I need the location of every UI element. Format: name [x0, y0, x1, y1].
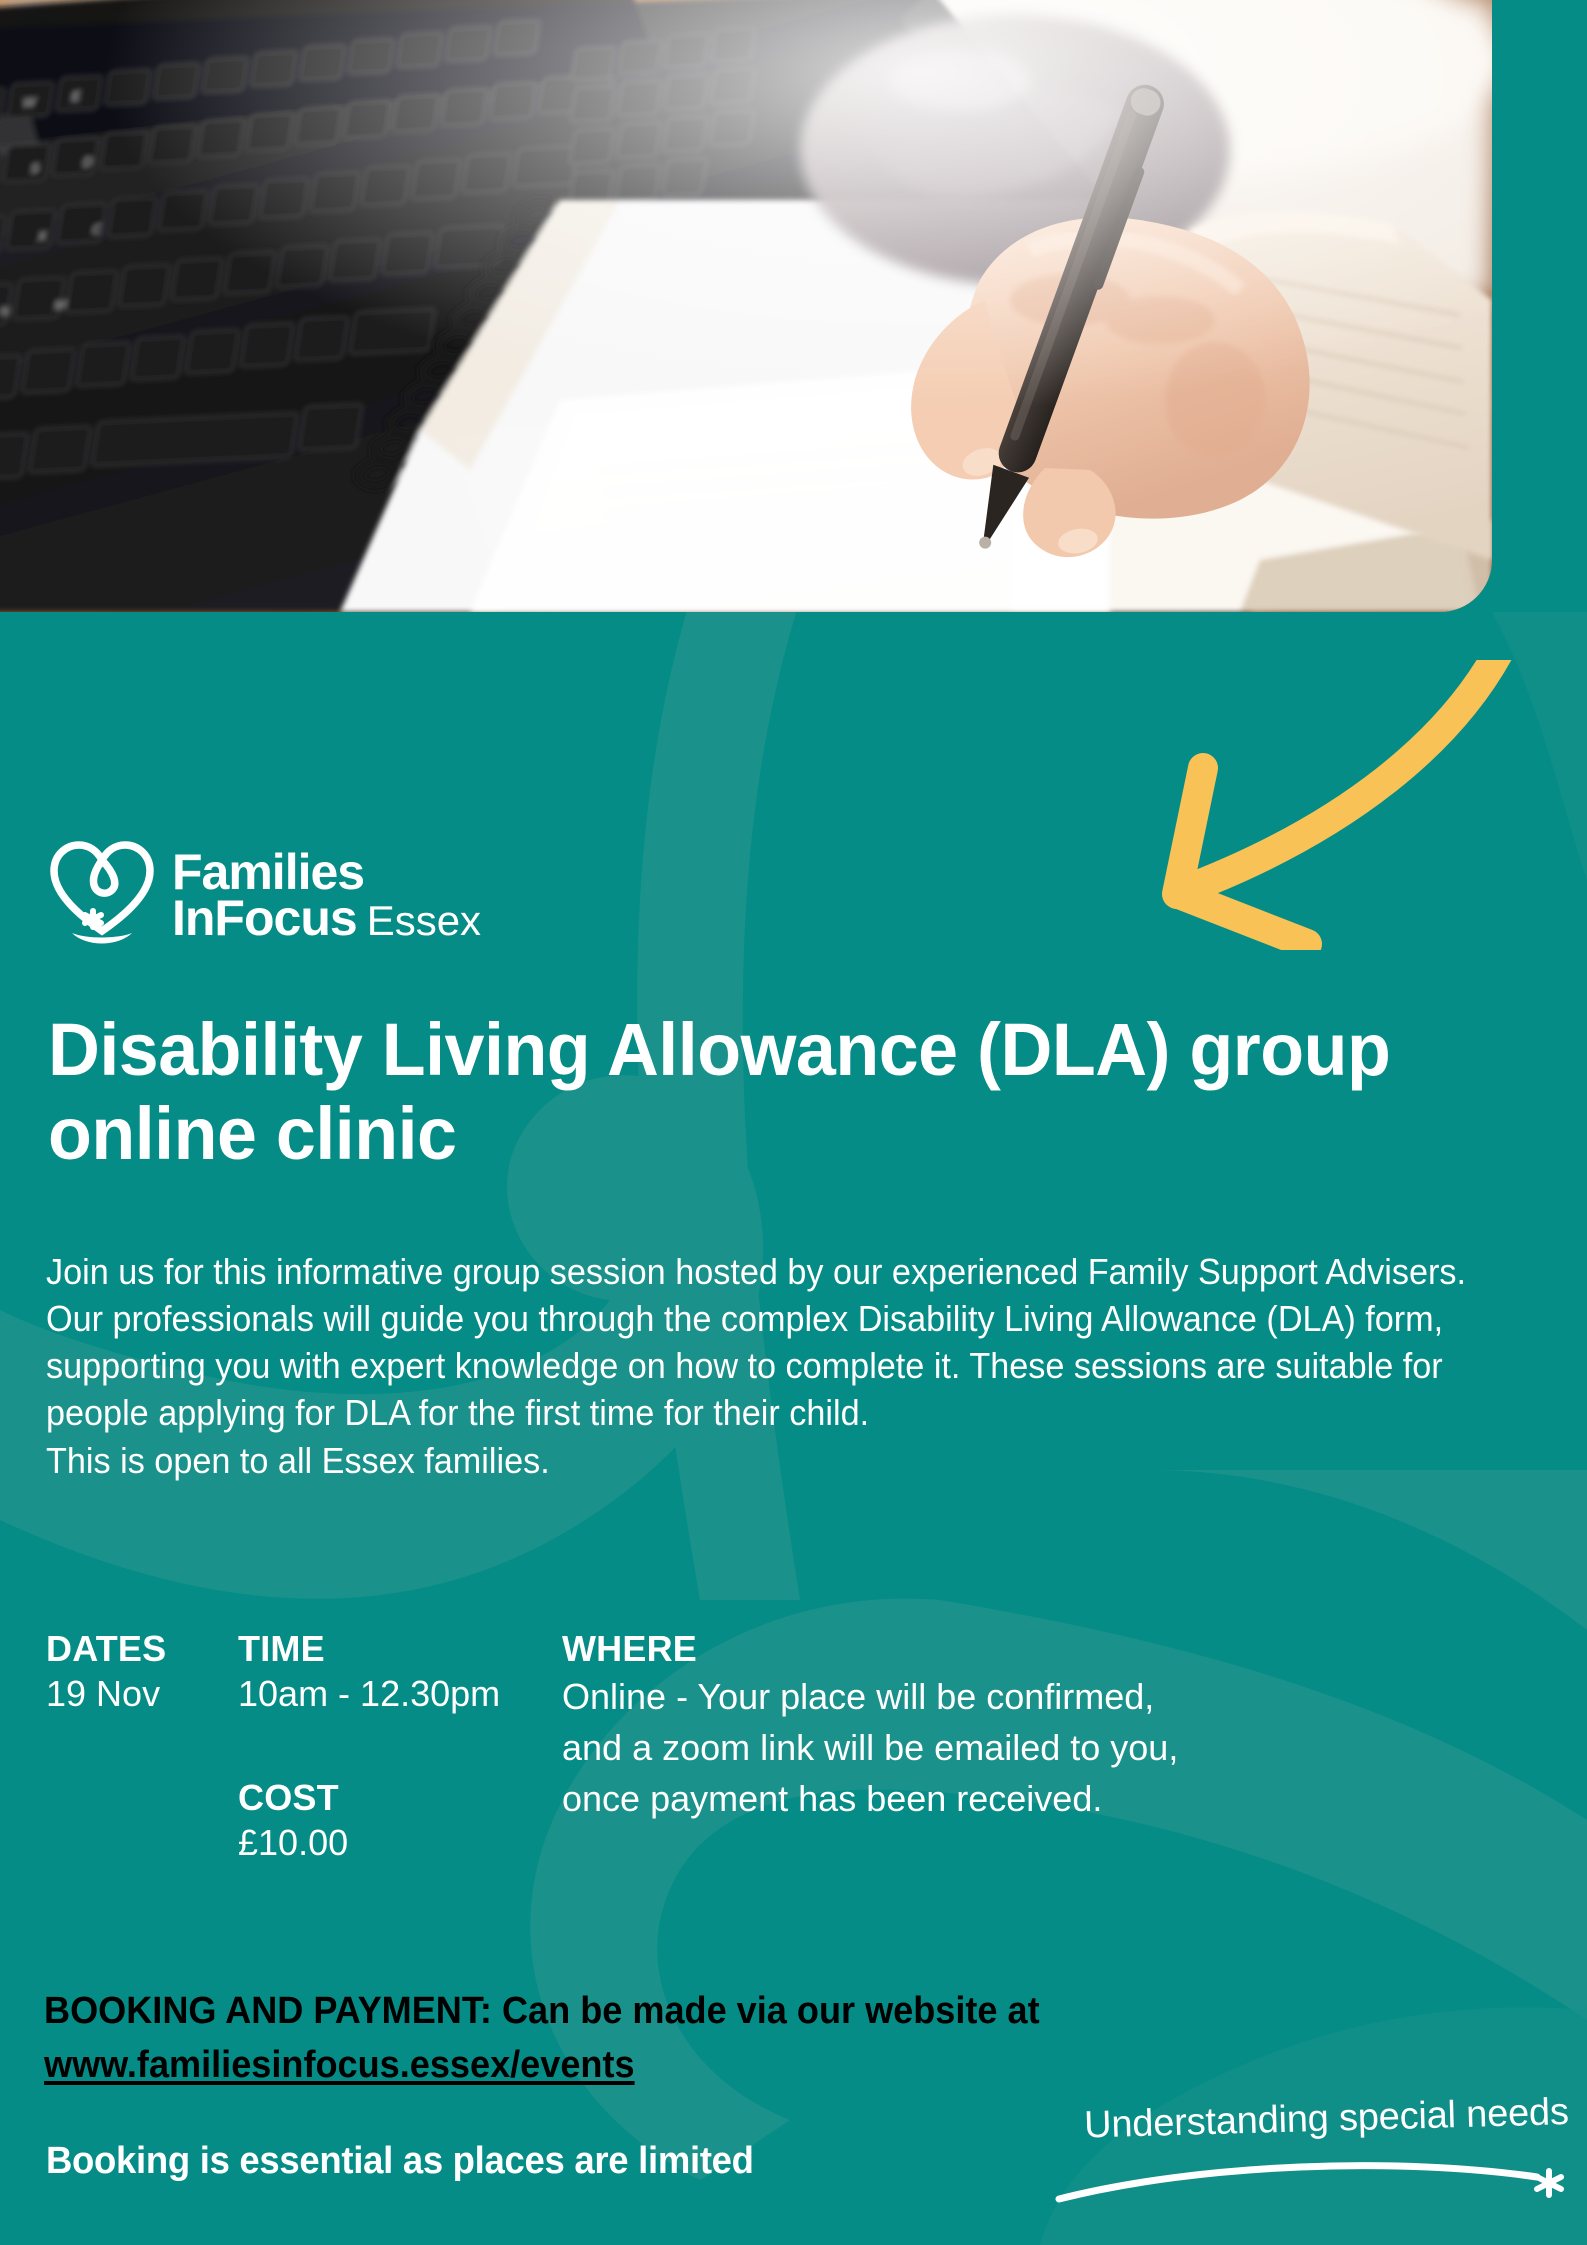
brand-tagline: Understanding special needs	[1051, 2091, 1571, 2211]
description-note: This is open to all Essex families.	[46, 1437, 1481, 1484]
logo-region: Essex	[367, 901, 481, 940]
cost-label: COST	[238, 1775, 588, 1820]
booking-payment-line: BOOKING AND PAYMENT: Can be made via our…	[44, 1985, 1042, 2039]
header-photo: QWE ASD ZXC NM	[0, 0, 1492, 612]
logo-line1: Families	[172, 849, 481, 896]
event-description: Join us for this informative group sessi…	[46, 1248, 1481, 1484]
dates-value: 19 Nov	[46, 1671, 226, 1717]
details-dates-column: DATES 19 Nov	[46, 1626, 226, 1717]
dates-label: DATES	[46, 1626, 226, 1671]
where-value: Online - Your place will be confirmed, a…	[562, 1671, 1202, 1824]
time-value: 10am - 12.30pm	[238, 1671, 588, 1717]
time-label: TIME	[238, 1626, 588, 1671]
page-title: Disability Living Allowance (DLA) group …	[48, 1008, 1484, 1175]
families-infocus-logo: Families InFocus Essex	[48, 836, 568, 954]
booking-info: BOOKING AND PAYMENT: Can be made via our…	[44, 1985, 1094, 2093]
where-label: WHERE	[562, 1626, 1202, 1671]
logo-line2: InFocus	[172, 895, 357, 942]
description-paragraph: Join us for this informative group sessi…	[46, 1248, 1481, 1437]
details-where-column: WHERE Online - Your place will be confir…	[562, 1626, 1202, 1824]
details-cost-block: COST £10.00	[238, 1775, 588, 1866]
details-time-column: TIME 10am - 12.30pm COST £10.00	[238, 1626, 588, 1866]
swoosh-underline-icon	[1051, 2137, 1571, 2207]
heart-smile-logo-icon	[48, 839, 156, 951]
booking-essential-note: Booking is essential as places are limit…	[46, 2140, 754, 2183]
poster-root: QWE ASD ZXC NM	[0, 0, 1587, 2245]
booking-website-link[interactable]: www.familiesinfocus.essex/events	[44, 2044, 635, 2086]
cost-value: £10.00	[238, 1820, 588, 1866]
curved-arrow-down-left-icon	[1095, 660, 1515, 950]
